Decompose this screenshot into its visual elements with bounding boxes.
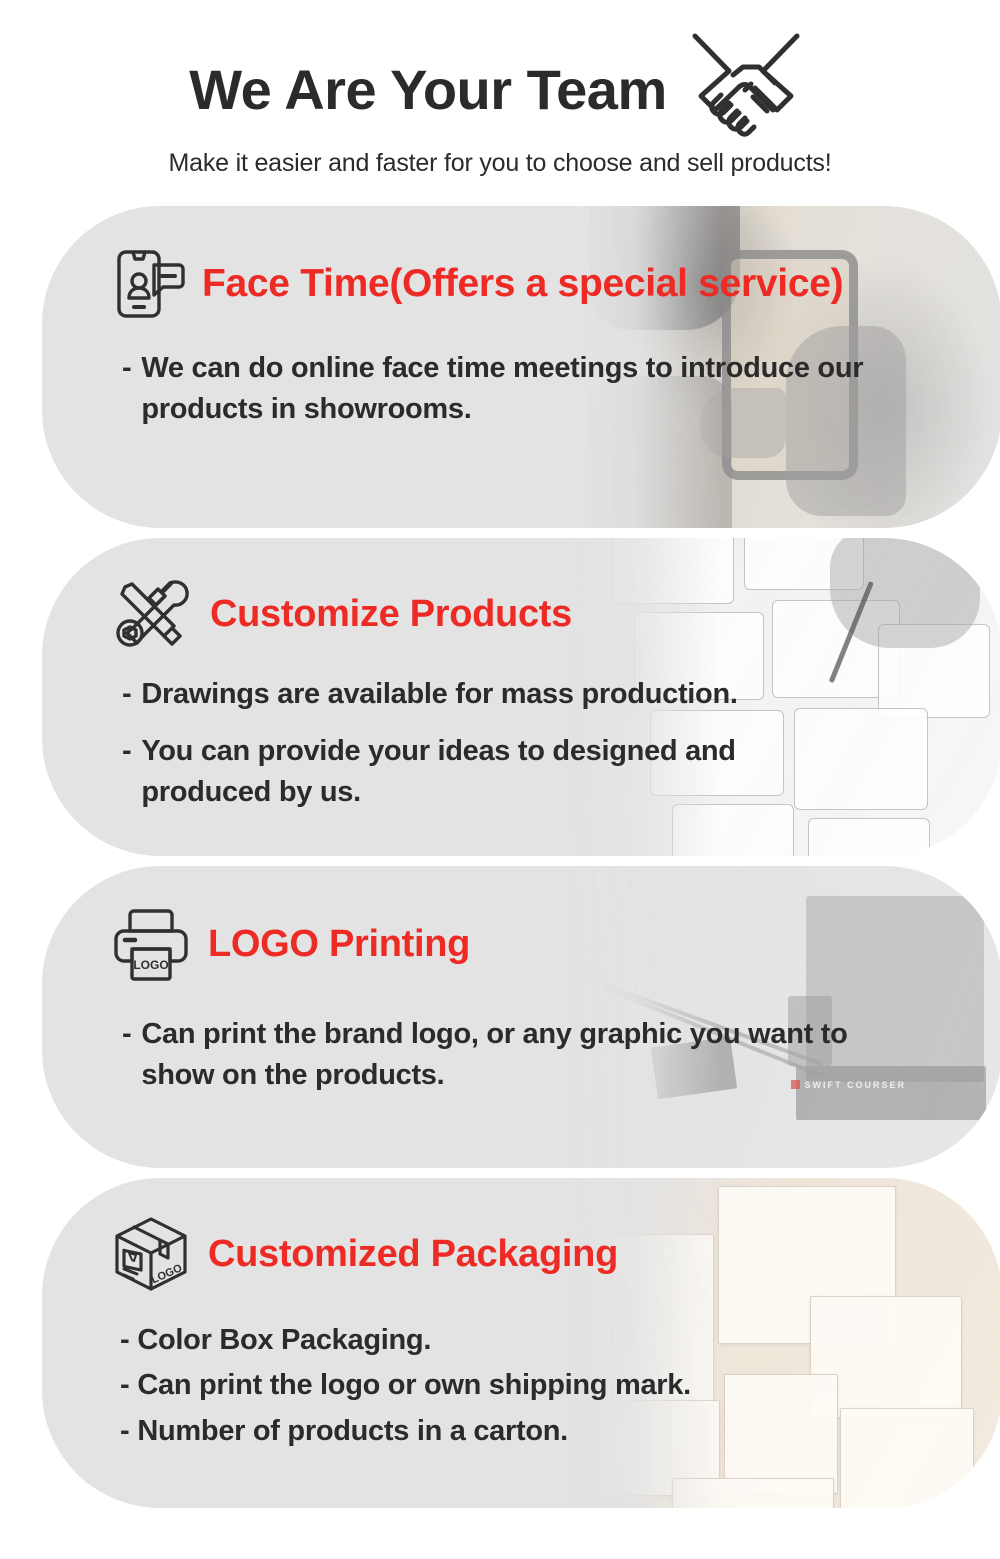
- feature-card-face-time: Face Time(Offers a special service) - We…: [42, 206, 1000, 528]
- card-heading: Customize Products: [210, 595, 572, 633]
- card-bullet-list: - Can print the brand logo, or any graph…: [108, 1014, 1000, 1096]
- feature-card-list: Face Time(Offers a special service) - We…: [0, 206, 1000, 1508]
- bullet-text: Drawings are available for mass producti…: [141, 674, 871, 715]
- handshake-icon: [681, 27, 811, 139]
- carton-box-logo-icon: LOGO: [108, 1211, 194, 1297]
- card-header-row: Face Time(Offers a special service): [108, 236, 1000, 332]
- bullet-dash: -: [122, 348, 131, 430]
- bullet-text: Can print the logo or own shipping mark.: [137, 1367, 927, 1405]
- bullet-text: You can provide your ideas to designed a…: [141, 731, 871, 813]
- bullet-dash: -: [120, 1413, 129, 1451]
- card-heading: LOGO Printing: [208, 925, 470, 963]
- card-body: LOGO LOGO Printing - Can print the brand…: [42, 866, 1000, 1096]
- printer-paper-logo-text: LOGO: [133, 958, 168, 972]
- printer-logo-icon: LOGO: [108, 901, 194, 987]
- bullet-text: Can print the brand logo, or any graphic…: [141, 1014, 901, 1096]
- bullet-item: - You can provide your ideas to designed…: [122, 731, 1000, 813]
- card-heading: Customized Packaging: [208, 1235, 618, 1273]
- bullet-item: - Can print the brand logo, or any graph…: [122, 1014, 1000, 1096]
- bullet-item: - Number of products in a carton.: [120, 1413, 1000, 1451]
- title-row: We Are Your Team: [0, 52, 1000, 128]
- bullet-dash: -: [122, 731, 131, 813]
- card-body: Customize Products - Drawings are availa…: [42, 538, 1000, 814]
- bullet-item: - Color Box Packaging.: [120, 1322, 1000, 1360]
- card-bullet-list: - Color Box Packaging. - Can print the l…: [108, 1322, 1000, 1451]
- feature-card-logo-printing: SWIFT COURSER LOGO LOGO Printing: [42, 866, 1000, 1168]
- feature-card-customized-packaging: LOGO Customized Packaging - Color Box Pa…: [42, 1178, 1000, 1508]
- bullet-item: - We can do online face time meetings to…: [122, 348, 1000, 430]
- bullet-dash: -: [122, 1014, 131, 1096]
- card-header-row: Customize Products: [108, 566, 1000, 662]
- card-body: Face Time(Offers a special service) - We…: [42, 206, 1000, 430]
- bullet-text: We can do online face time meetings to i…: [141, 348, 961, 430]
- wrench-screwdriver-icon: [108, 571, 194, 657]
- page-title: We Are Your Team: [189, 62, 667, 118]
- bullet-text: Color Box Packaging.: [137, 1322, 927, 1360]
- bullet-dash: -: [120, 1367, 129, 1405]
- feature-card-customize-products: Customize Products - Drawings are availa…: [42, 538, 1000, 856]
- bullet-item: - Can print the logo or own shipping mar…: [120, 1367, 1000, 1405]
- bullet-item: - Drawings are available for mass produc…: [122, 674, 1000, 715]
- bullet-dash: -: [122, 674, 131, 715]
- card-heading: Face Time(Offers a special service): [202, 264, 843, 303]
- card-bullet-list: - We can do online face time meetings to…: [108, 348, 1000, 430]
- video-call-phone-icon: [108, 241, 194, 327]
- bullet-dash: -: [120, 1322, 129, 1360]
- page-header: We Are Your Team Make it easier and fast…: [0, 0, 1000, 178]
- card-body: LOGO Customized Packaging - Color Box Pa…: [42, 1178, 1000, 1451]
- card-bullet-list: - Drawings are available for mass produc…: [108, 674, 1000, 814]
- card-header-row: LOGO Customized Packaging: [108, 1206, 1000, 1302]
- page-subtitle: Make it easier and faster for you to cho…: [0, 150, 1000, 178]
- card-header-row: LOGO LOGO Printing: [108, 896, 1000, 992]
- bullet-text: Number of products in a carton.: [137, 1413, 927, 1451]
